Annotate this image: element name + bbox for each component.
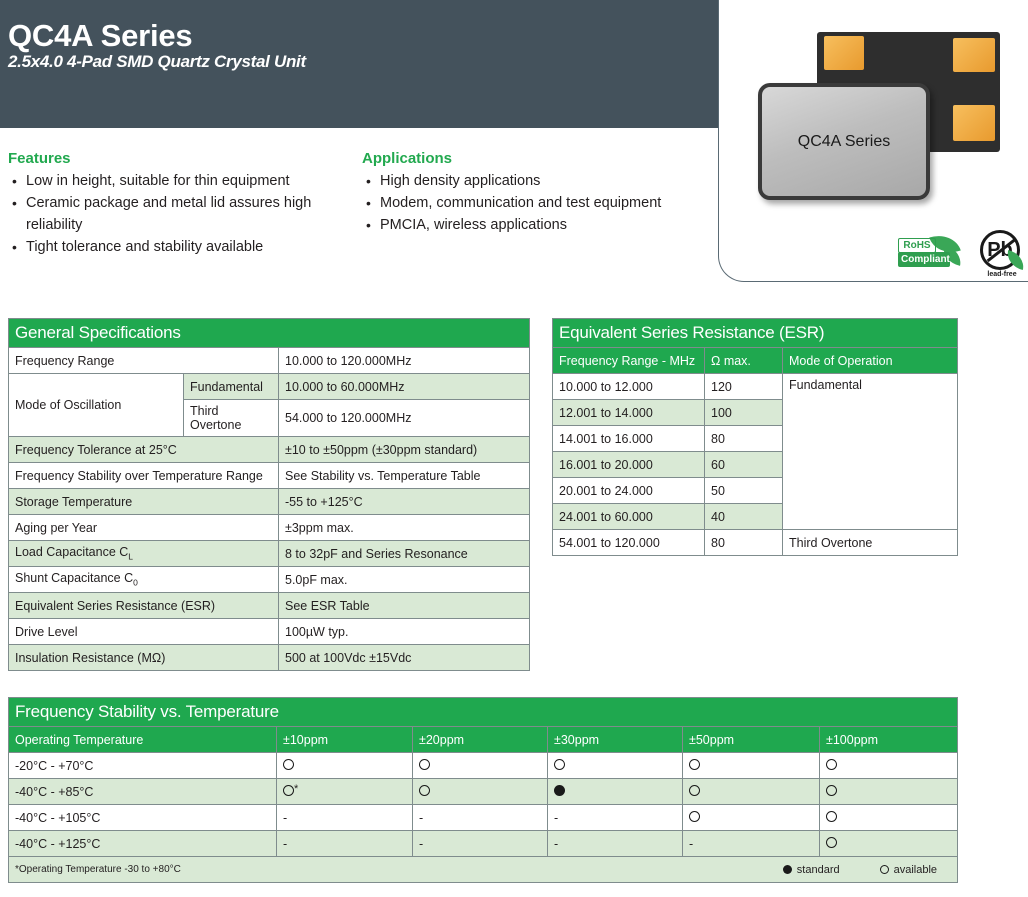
table-row: Mode of Oscillation Fundamental 10.000 t…	[9, 374, 530, 400]
general-specifications-title: General Specifications	[9, 319, 530, 348]
stability-cell: -	[548, 805, 683, 831]
open-circle-icon	[554, 759, 565, 770]
spec-value: 54.000 to 120.000MHz	[279, 400, 530, 437]
spec-value: See Stability vs. Temperature Table	[279, 463, 530, 489]
stability-cell	[683, 753, 820, 779]
column-header-20ppm: ±20ppm	[413, 727, 548, 753]
open-circle-icon	[826, 837, 837, 848]
lead-free-label: lead-free	[978, 271, 1026, 278]
esr-frequency-range: 14.001 to 16.000	[553, 426, 705, 452]
spec-value: 5.0pF max.	[279, 567, 530, 593]
column-header-50ppm: ±50ppm	[683, 727, 820, 753]
lead-free-icon: Pb lead-free	[978, 230, 1026, 280]
table-footnote-row: *Operating Temperature -30 to +80°C stan…	[9, 857, 958, 883]
filled-circle-icon	[783, 865, 792, 874]
esr-ohms: 40	[705, 504, 783, 530]
stability-cell	[820, 805, 958, 831]
open-circle-icon	[283, 759, 294, 770]
spec-sublabel: Fundamental	[184, 374, 279, 400]
table-row: Shunt Capacitance C0 5.0pF max.	[9, 567, 530, 593]
column-header-mode-of-operation: Mode of Operation	[783, 348, 958, 374]
esr-ohms: 80	[705, 530, 783, 556]
filled-circle-icon	[554, 785, 565, 796]
spec-sublabel: Third Overtone	[184, 400, 279, 437]
stability-cell: -	[413, 805, 548, 831]
esr-table: Equivalent Series Resistance (ESR) Frequ…	[552, 318, 957, 556]
stability-cell	[548, 779, 683, 805]
stability-cell	[277, 753, 413, 779]
esr-ohms: 100	[705, 400, 783, 426]
esr-mode: Third Overtone	[783, 530, 958, 556]
applications-section: Applications High density applications M…	[362, 150, 702, 236]
general-specifications-table: General Specifications Frequency Range 1…	[8, 318, 529, 671]
stability-cell	[820, 779, 958, 805]
spec-label: Storage Temperature	[9, 489, 279, 515]
legend-item-standard: standard	[783, 864, 840, 876]
spec-label-subscript: L	[128, 552, 133, 562]
esr-frequency-range: 54.001 to 120.000	[553, 530, 705, 556]
rohs-compliant-icon: RoHS Compliant	[898, 233, 970, 273]
esr-frequency-range: 20.001 to 24.000	[553, 478, 705, 504]
header-banner: QC4A Series 2.5x4.0 4-Pad SMD Quartz Cry…	[0, 0, 722, 128]
table-row: Frequency Stability over Temperature Ran…	[9, 463, 530, 489]
esr-frequency-range: 16.001 to 20.000	[553, 452, 705, 478]
spec-value: 8 to 32pF and Series Resonance	[279, 541, 530, 567]
legend: standard available	[783, 864, 951, 876]
table-title-row: General Specifications	[9, 319, 530, 348]
open-circle-icon	[826, 811, 837, 822]
features-section: Features Low in height, suitable for thi…	[8, 150, 348, 258]
table-row: -40°C - +85°C *	[9, 779, 958, 805]
stability-title: Frequency Stability vs. Temperature	[9, 698, 958, 727]
stability-cell: -	[413, 831, 548, 857]
stability-cell	[820, 753, 958, 779]
esr-ohms: 80	[705, 426, 783, 452]
spec-label-subscript: 0	[133, 578, 138, 588]
open-circle-icon	[880, 865, 889, 874]
solder-pad-bottom-right	[953, 105, 995, 141]
spec-label: Load Capacitance CL	[9, 541, 279, 567]
table-row: -40°C - +125°C - - - -	[9, 831, 958, 857]
page-title: QC4A Series	[8, 18, 192, 54]
rohs-label-line1: RoHS	[898, 238, 936, 253]
spec-label-text: Shunt Capacitance C	[15, 571, 133, 585]
open-circle-icon	[689, 811, 700, 822]
table-title-row: Frequency Stability vs. Temperature	[9, 698, 958, 727]
spec-label: Frequency Tolerance at 25°C	[9, 437, 279, 463]
spec-label: Drive Level	[9, 619, 279, 645]
table-row: Storage Temperature -55 to +125°C	[9, 489, 530, 515]
stability-cell: -	[548, 831, 683, 857]
stability-cell	[413, 753, 548, 779]
column-header-ohms-max: Ω max.	[705, 348, 783, 374]
stability-cell	[683, 805, 820, 831]
crystal-metal-lid: QC4A Series	[758, 83, 930, 200]
open-circle-icon	[826, 759, 837, 770]
stability-footnote-cell: *Operating Temperature -30 to +80°C stan…	[9, 857, 958, 883]
column-header-10ppm: ±10ppm	[277, 727, 413, 753]
open-circle-icon	[689, 759, 700, 770]
table-row: -20°C - +70°C	[9, 753, 958, 779]
esr-frequency-range: 24.001 to 60.000	[553, 504, 705, 530]
spec-label: Insulation Resistance (MΩ)	[9, 645, 279, 671]
rohs-label-line2: Compliant	[898, 252, 950, 267]
table-row: Load Capacitance CL 8 to 32pF and Series…	[9, 541, 530, 567]
solder-pad-top-right	[953, 38, 995, 72]
stability-vs-temperature-table: Frequency Stability vs. Temperature Oper…	[8, 697, 957, 883]
esr-title: Equivalent Series Resistance (ESR)	[553, 319, 958, 348]
table-row: -40°C - +105°C - - -	[9, 805, 958, 831]
table-row: Drive Level 100µW typ.	[9, 619, 530, 645]
spec-value: 10.000 to 120.000MHz	[279, 348, 530, 374]
esr-mode: Fundamental	[783, 374, 958, 530]
column-header-100ppm: ±100ppm	[820, 727, 958, 753]
stability-cell: -	[277, 805, 413, 831]
table-row: 10.000 to 12.000 120 Fundamental	[553, 374, 958, 400]
stability-temperature: -40°C - +125°C	[9, 831, 277, 857]
stability-cell	[683, 779, 820, 805]
stability-footnote: *Operating Temperature -30 to +80°C	[15, 864, 181, 875]
list-item: Modem, communication and test equipment	[378, 192, 702, 214]
spec-label: Mode of Oscillation	[9, 374, 184, 437]
footnote-asterisk: *	[294, 785, 298, 794]
esr-frequency-range: 10.000 to 12.000	[553, 374, 705, 400]
esr-frequency-range: 12.001 to 14.000	[553, 400, 705, 426]
table-row: Frequency Range 10.000 to 120.000MHz	[9, 348, 530, 374]
table-row: Insulation Resistance (MΩ) 500 at 100Vdc…	[9, 645, 530, 671]
list-item: High density applications	[378, 170, 702, 192]
spec-value: ±3ppm max.	[279, 515, 530, 541]
column-header-30ppm: ±30ppm	[548, 727, 683, 753]
features-list: Low in height, suitable for thin equipme…	[8, 170, 348, 258]
table-header-row: Frequency Range - MHz Ω max. Mode of Ope…	[553, 348, 958, 374]
esr-ohms: 120	[705, 374, 783, 400]
esr-ohms: 50	[705, 478, 783, 504]
spec-label: Equivalent Series Resistance (ESR)	[9, 593, 279, 619]
legend-item-available: available	[880, 864, 937, 876]
stability-cell	[413, 779, 548, 805]
column-header-operating-temperature: Operating Temperature	[9, 727, 277, 753]
column-header-frequency-range: Frequency Range - MHz	[553, 348, 705, 374]
spec-value: 500 at 100Vdc ±15Vdc	[279, 645, 530, 671]
stability-temperature: -40°C - +105°C	[9, 805, 277, 831]
open-circle-icon	[826, 785, 837, 796]
table-row: Frequency Tolerance at 25°C ±10 to ±50pp…	[9, 437, 530, 463]
spec-label: Shunt Capacitance C0	[9, 567, 279, 593]
list-item: Low in height, suitable for thin equipme…	[24, 170, 348, 192]
features-heading: Features	[8, 150, 348, 167]
table-row: Aging per Year ±3ppm max.	[9, 515, 530, 541]
table-row: 54.001 to 120.000 80 Third Overtone	[553, 530, 958, 556]
solder-pad-top-left	[824, 36, 864, 70]
stability-cell	[548, 753, 683, 779]
stability-cell: -	[277, 831, 413, 857]
list-item: PMCIA, wireless applications	[378, 214, 702, 236]
legend-label: available	[894, 864, 937, 876]
stability-cell: *	[277, 779, 413, 805]
applications-list: High density applications Modem, communi…	[362, 170, 702, 236]
stability-temperature: -40°C - +85°C	[9, 779, 277, 805]
legend-label: standard	[797, 864, 840, 876]
esr-ohms: 60	[705, 452, 783, 478]
spec-label: Frequency Stability over Temperature Ran…	[9, 463, 279, 489]
stability-cell	[820, 831, 958, 857]
spec-value: -55 to +125°C	[279, 489, 530, 515]
list-item: Tight tolerance and stability available	[24, 236, 348, 258]
spec-label: Aging per Year	[9, 515, 279, 541]
table-header-row: Operating Temperature ±10ppm ±20ppm ±30p…	[9, 727, 958, 753]
list-item: Ceramic package and metal lid assures hi…	[24, 192, 348, 236]
package-label: QC4A Series	[762, 87, 926, 196]
spec-label-text: Load Capacitance C	[15, 545, 128, 559]
spec-value: See ESR Table	[279, 593, 530, 619]
spec-value: 10.000 to 60.000MHz	[279, 374, 530, 400]
stability-temperature: -20°C - +70°C	[9, 753, 277, 779]
open-circle-icon	[419, 759, 430, 770]
open-circle-icon	[689, 785, 700, 796]
applications-heading: Applications	[362, 150, 702, 167]
page-subtitle: 2.5x4.0 4-Pad SMD Quartz Crystal Unit	[8, 52, 306, 72]
spec-value: ±10 to ±50ppm (±30ppm standard)	[279, 437, 530, 463]
spec-label: Frequency Range	[9, 348, 279, 374]
open-circle-icon	[283, 785, 294, 796]
stability-cell: -	[683, 831, 820, 857]
table-row: Equivalent Series Resistance (ESR) See E…	[9, 593, 530, 619]
spec-value: 100µW typ.	[279, 619, 530, 645]
table-title-row: Equivalent Series Resistance (ESR)	[553, 319, 958, 348]
open-circle-icon	[419, 785, 430, 796]
